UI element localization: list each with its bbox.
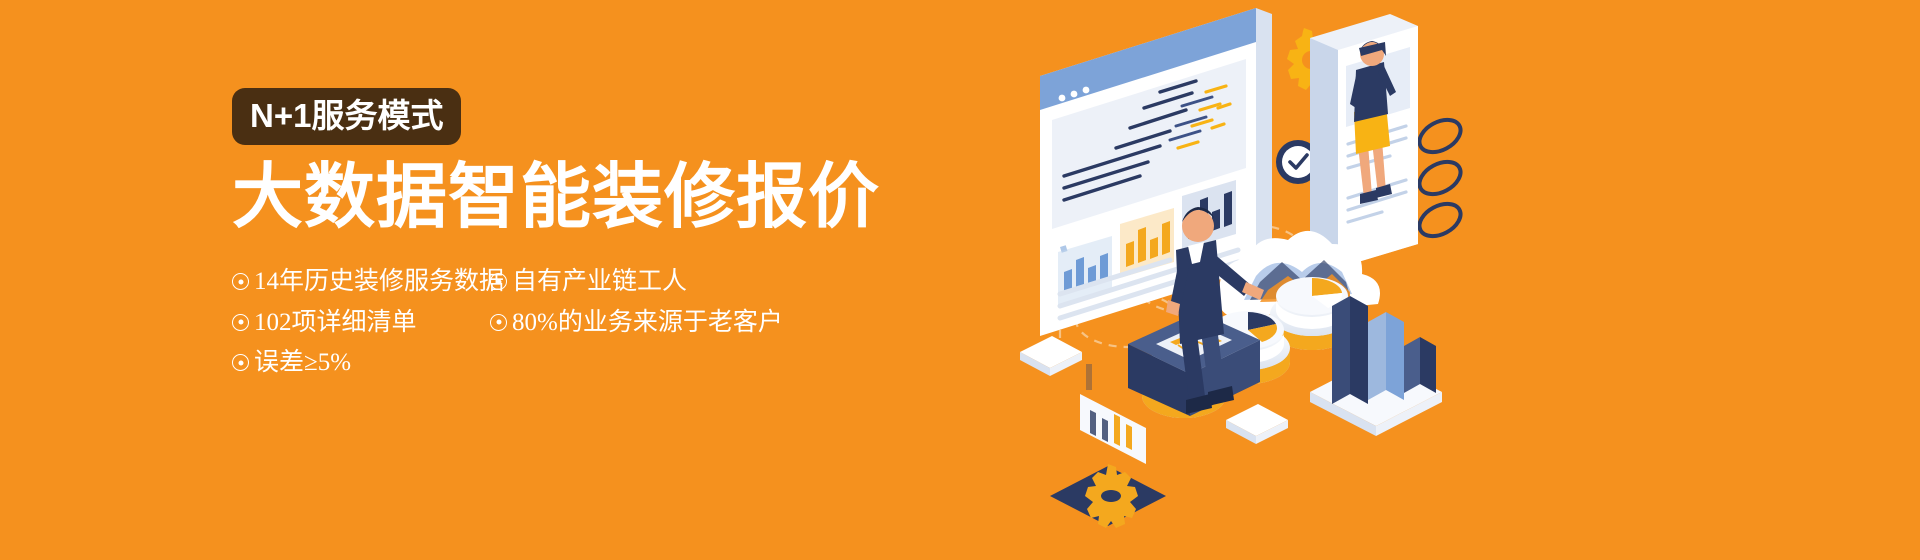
bar-columns-navy — [1080, 394, 1146, 464]
bullet-column-left: 14年历史装修服务数据 102项详细清单 误差≥5% — [232, 262, 490, 384]
circled-dot-icon — [490, 273, 507, 290]
isometric-big-data-illustration — [1020, 0, 1580, 560]
list-item-label: 102项详细清单 — [254, 303, 417, 344]
ring-stack — [1414, 113, 1466, 242]
service-mode-badge: N+1服务模式 — [232, 88, 461, 145]
circled-dot-icon — [490, 314, 507, 331]
list-item-label: 自有产业链工人 — [512, 262, 687, 303]
list-item: 80%的业务来源于老客户 — [490, 303, 790, 344]
feature-bullet-list: 14年历史装修服务数据 102项详细清单 误差≥5% 自有产业链工人 — [232, 262, 932, 384]
bullet-column-right: 自有产业链工人 80%的业务来源于老客户 — [490, 262, 790, 343]
list-item: 误差≥5% — [232, 343, 490, 384]
page-title: 大数据智能装修报价 — [232, 162, 932, 234]
gear-yellow-small — [1050, 464, 1166, 528]
circled-dot-icon — [232, 273, 249, 290]
list-item-label: 误差≥5% — [254, 343, 351, 384]
list-item-label: 14年历史装修服务数据 — [254, 262, 504, 303]
circled-dot-icon — [232, 354, 249, 371]
promo-banner: N+1服务模式 大数据智能装修报价 14年历史装修服务数据 102项详细清单 误… — [0, 0, 1920, 560]
banner-copy: N+1服务模式 大数据智能装修报价 14年历史装修服务数据 102项详细清单 误… — [232, 88, 932, 384]
list-item: 自有产业链工人 — [490, 262, 790, 303]
list-item-label: 80%的业务来源于老客户 — [512, 303, 783, 344]
list-item: 102项详细清单 — [232, 303, 490, 344]
circled-dot-icon — [232, 314, 249, 331]
list-item: 14年历史装修服务数据 — [232, 262, 490, 303]
